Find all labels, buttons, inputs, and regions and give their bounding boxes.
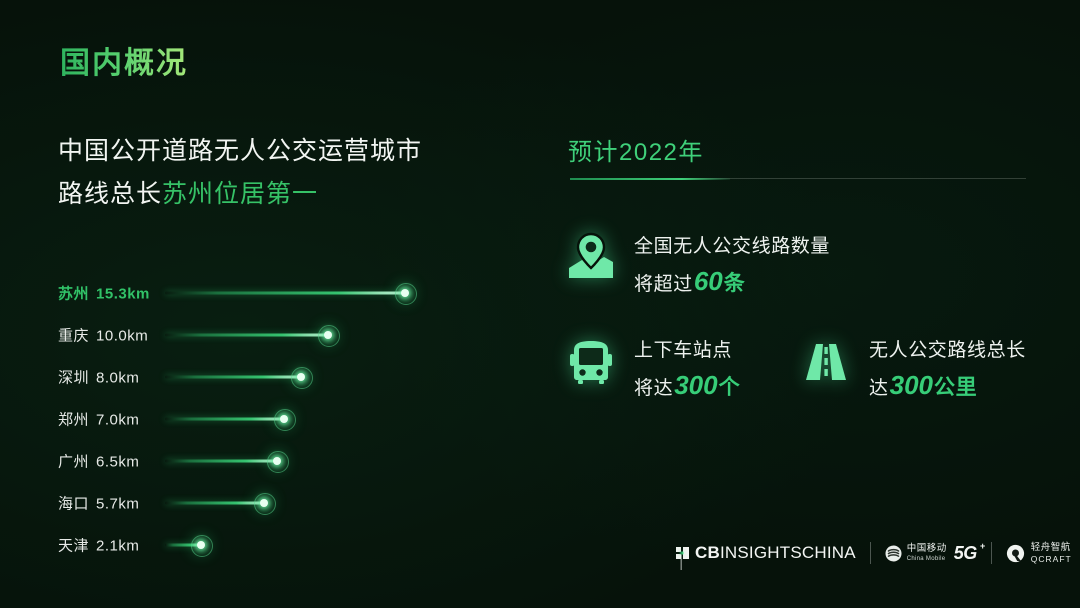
china-mobile-cn: 中国移动 xyxy=(907,544,947,554)
row-value: 7.0km xyxy=(96,412,139,429)
fact-line2: 将达300个 xyxy=(634,365,740,405)
fact-unit: 公里 xyxy=(934,376,977,399)
china-mobile-5g-text: 5G xyxy=(954,543,977,563)
subtitle: 中国公开道路无人公交运营城市 路线总长苏州位居第一 xyxy=(58,130,528,216)
row-city: 重庆 xyxy=(58,328,89,345)
fact-line2-prefix: 将超过 xyxy=(634,274,693,295)
fact-line2-prefix: 达 xyxy=(869,378,889,399)
row-label: 广州6.5km xyxy=(58,451,139,472)
row-label: 苏州15.3km xyxy=(58,283,150,304)
cbinsights-wordmark: CBINSIGHTS|CHINA xyxy=(695,543,856,563)
map-pin-icon xyxy=(565,232,617,284)
fact-line2: 达300公里 xyxy=(869,365,1026,405)
fact-text: 全国无人公交线路数量 将超过60条 xyxy=(634,232,830,301)
row-value: 15.3km xyxy=(96,286,150,303)
bar-track xyxy=(165,414,475,424)
table-row: 郑州7.0km xyxy=(58,398,478,440)
qcraft-en: QCRAFT xyxy=(1031,555,1072,564)
fact-text: 上下车站点 将达300个 xyxy=(634,336,740,405)
city-route-length-chart: 苏州15.3km 重庆10.0km 深圳8.0km xyxy=(58,272,478,566)
row-city: 深圳 xyxy=(58,370,89,387)
cbinsights-region: CHINA xyxy=(802,543,856,562)
bus-icon xyxy=(565,336,617,388)
table-row: 天津2.1km xyxy=(58,524,478,566)
table-row: 海口5.7km xyxy=(58,482,478,524)
china-mobile-en: China Mobile xyxy=(907,556,947,562)
row-city: 郑州 xyxy=(58,412,89,429)
bar-track xyxy=(165,540,475,550)
logo-qcraft: 轻舟智航 QCRAFT xyxy=(1006,543,1072,564)
fact-number: 300 xyxy=(889,370,934,400)
panel-title: 预计2022年 xyxy=(568,132,704,167)
fact-number: 300 xyxy=(673,370,718,400)
fact-unit: 个 xyxy=(719,376,741,399)
panel-divider xyxy=(570,178,1026,180)
qcraft-q-icon xyxy=(1006,544,1025,563)
subtitle-line1: 中国公开道路无人公交运营城市 xyxy=(58,137,422,165)
cbinsights-cb: CB xyxy=(695,543,720,562)
footer-separator xyxy=(991,542,992,564)
row-city: 苏州 xyxy=(58,286,89,303)
subtitle-line2-plain: 路线总长 xyxy=(58,180,162,208)
bar-track xyxy=(165,330,475,340)
fact-line2: 将超过60条 xyxy=(634,261,830,301)
divider-accent-line xyxy=(570,178,730,180)
row-value: 5.7km xyxy=(96,496,139,513)
logo-cbinsights-china: CBINSIGHTS|CHINA xyxy=(676,543,856,563)
bar-track xyxy=(165,498,475,508)
china-mobile-wordmark: 中国移动 China Mobile xyxy=(907,544,947,562)
china-mobile-plus: + xyxy=(980,541,985,551)
fact-line1: 上下车站点 xyxy=(634,340,732,361)
row-city: 广州 xyxy=(58,454,89,471)
bar-fill xyxy=(165,292,405,295)
row-label: 海口5.7km xyxy=(58,493,139,514)
china-mobile-swirl-icon xyxy=(885,545,902,562)
qcraft-cn: 轻舟智航 xyxy=(1031,543,1072,553)
bar-fill xyxy=(165,334,328,337)
fact-text: 无人公交路线总长 达300公里 xyxy=(869,336,1026,405)
row-value: 2.1km xyxy=(96,538,139,555)
row-city: 天津 xyxy=(58,538,89,555)
row-value: 10.0km xyxy=(96,328,148,345)
fact-number: 60 xyxy=(693,266,724,296)
fact-unit: 条 xyxy=(724,272,746,295)
fact-stops: 上下车站点 将达300个 xyxy=(565,336,740,405)
row-label: 深圳8.0km xyxy=(58,367,139,388)
row-label: 天津2.1km xyxy=(58,535,139,556)
bar-track xyxy=(165,372,475,382)
china-mobile-5g-badge: 5G+ xyxy=(954,543,977,564)
fact-line1: 全国无人公交线路数量 xyxy=(634,236,830,257)
fact-routes: 全国无人公交线路数量 将超过60条 xyxy=(565,232,830,301)
row-value: 6.5km xyxy=(96,454,139,471)
footer-logos: CBINSIGHTS|CHINA 中国移动 China Mobile 5G+ xyxy=(676,542,1072,564)
bar-fill xyxy=(165,376,301,379)
cbinsights-insights: INSIGHTS xyxy=(720,543,802,562)
fact-length: 无人公交路线总长 达300公里 xyxy=(800,336,1026,405)
bar-fill xyxy=(165,418,284,421)
table-row: 重庆10.0km xyxy=(58,314,478,356)
footer-separator xyxy=(870,542,871,564)
bar-fill xyxy=(165,460,277,463)
bar-endpoint-dot xyxy=(197,541,205,549)
table-row: 深圳8.0km xyxy=(58,356,478,398)
road-icon xyxy=(800,336,852,388)
slide-root: 国内概况 中国公开道路无人公交运营城市 路线总长苏州位居第一 苏州15.3km … xyxy=(0,0,1080,608)
logo-china-mobile: 中国移动 China Mobile 5G+ xyxy=(885,543,977,564)
bar-endpoint-dot xyxy=(273,457,281,465)
bar-track xyxy=(165,288,475,298)
bar-endpoint-dot xyxy=(324,331,332,339)
fact-line1: 无人公交路线总长 xyxy=(869,340,1026,361)
cbinsights-divider: | xyxy=(679,552,684,555)
bar-fill xyxy=(165,502,264,505)
bar-track xyxy=(165,456,475,466)
fact-line2-prefix: 将达 xyxy=(634,378,673,399)
table-row: 苏州15.3km xyxy=(58,272,478,314)
subtitle-line2-highlight: 苏州位居第一 xyxy=(162,180,318,208)
page-title: 国内概况 xyxy=(60,38,188,82)
row-label: 重庆10.0km xyxy=(58,325,148,346)
qcraft-wordmark: 轻舟智航 QCRAFT xyxy=(1031,543,1072,564)
row-city: 海口 xyxy=(58,496,89,513)
table-row: 广州6.5km xyxy=(58,440,478,482)
row-label: 郑州7.0km xyxy=(58,409,139,430)
row-value: 8.0km xyxy=(96,370,139,387)
